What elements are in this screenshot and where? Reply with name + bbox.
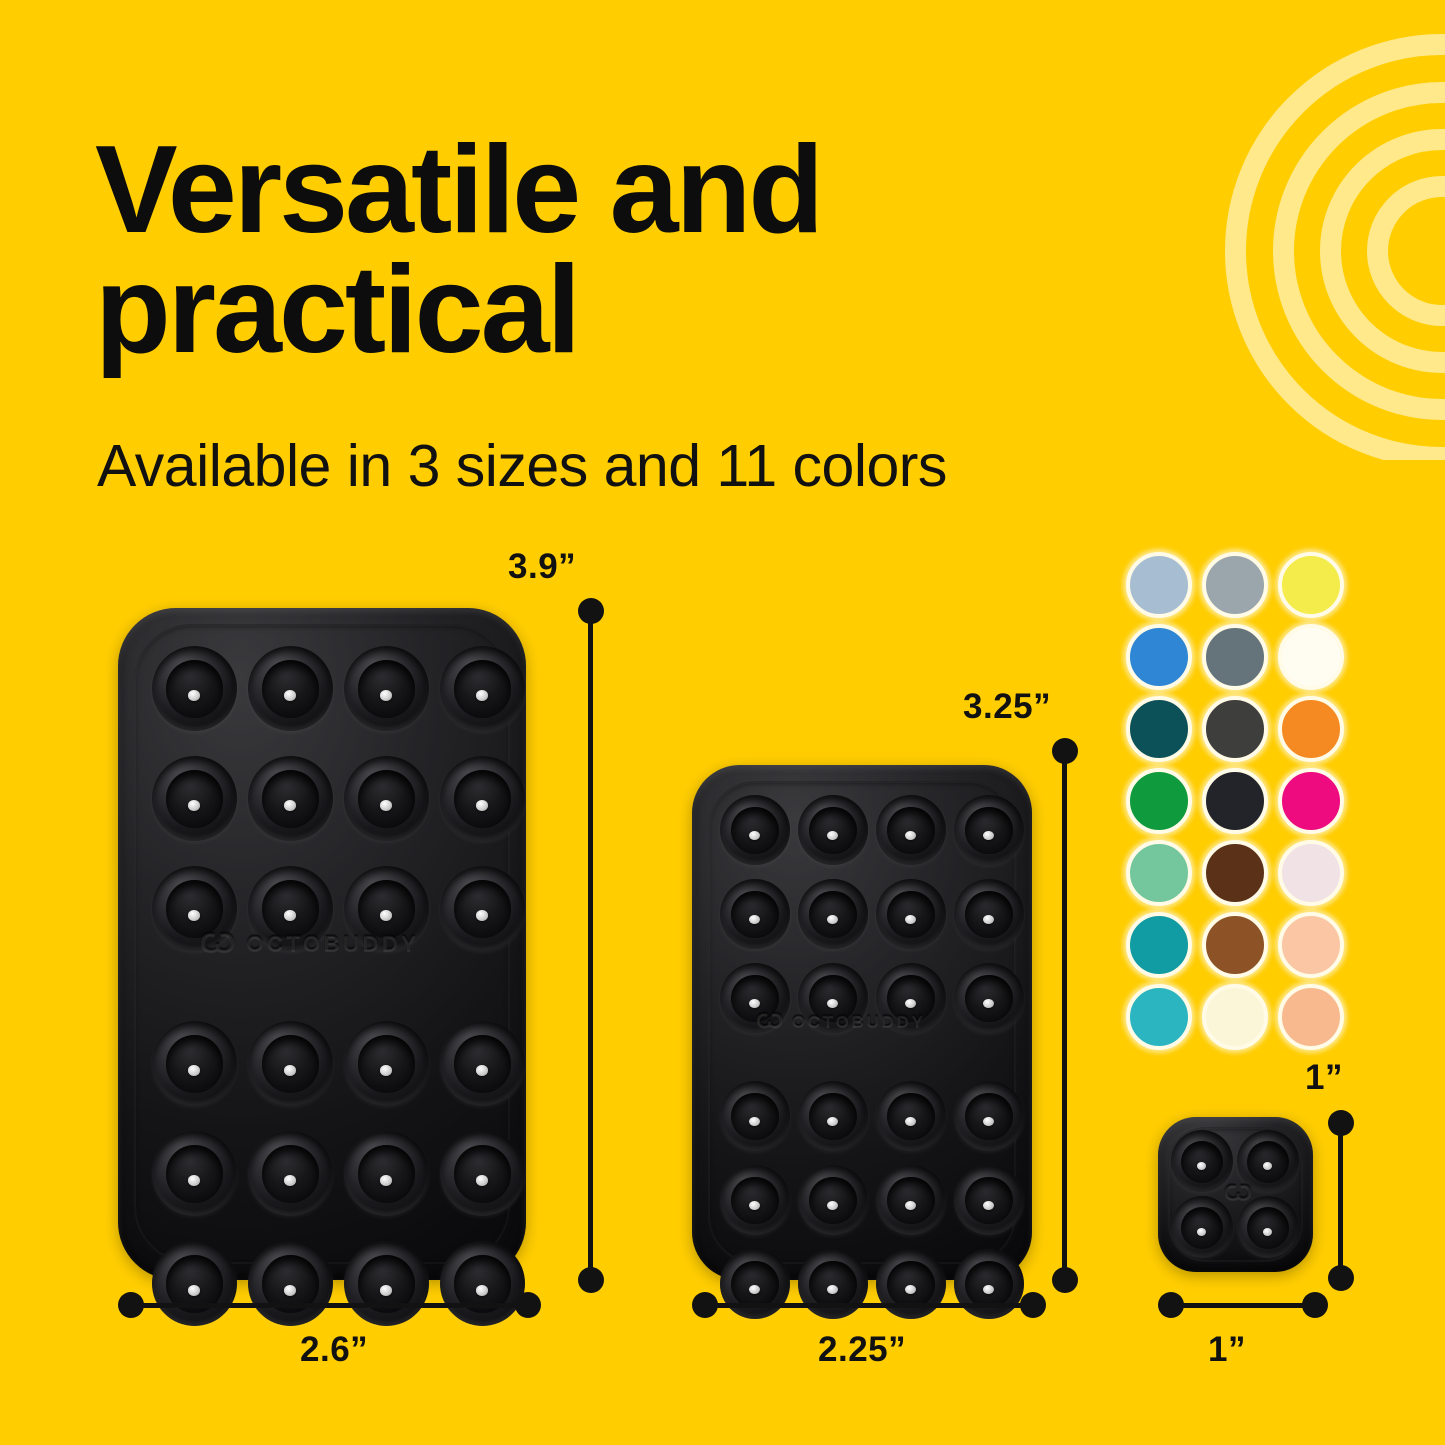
ring-icon bbox=[1225, 34, 1445, 460]
dim-endpoint-dot bbox=[578, 1267, 604, 1293]
suction-cup-nib bbox=[905, 831, 916, 840]
suction-cup bbox=[720, 1165, 790, 1235]
suction-cup bbox=[876, 963, 946, 1033]
suction-cup-nib bbox=[284, 1285, 297, 1296]
suction-cup-nib bbox=[827, 999, 838, 1008]
dim-endpoint-dot bbox=[1052, 1267, 1078, 1293]
large-pad-width-line bbox=[128, 1303, 528, 1308]
suction-cup-nib bbox=[905, 999, 916, 1008]
suction-cup-nib bbox=[284, 690, 297, 701]
color-swatch-blush-white[interactable] bbox=[1278, 840, 1344, 906]
page-title-line-1: Versatile and bbox=[95, 121, 821, 259]
mini-pad-height-line bbox=[1338, 1120, 1343, 1275]
suction-cup bbox=[440, 1021, 525, 1106]
suction-cup-nib bbox=[188, 1065, 201, 1076]
suction-cup bbox=[720, 879, 790, 949]
suction-cup-nib bbox=[983, 999, 994, 1008]
suction-cup-nib bbox=[1197, 1162, 1206, 1170]
suction-cup bbox=[954, 879, 1024, 949]
suction-cup-nib bbox=[1263, 1228, 1272, 1236]
suction-cup bbox=[440, 866, 525, 951]
suction-cup-nib bbox=[188, 1285, 201, 1296]
suction-cup-nib bbox=[476, 690, 489, 701]
suction-cup bbox=[344, 866, 429, 951]
suction-cup-nib bbox=[1263, 1162, 1272, 1170]
suction-cup bbox=[152, 866, 237, 951]
suction-cup-nib bbox=[983, 1117, 994, 1126]
color-swatch-charcoal[interactable] bbox=[1202, 696, 1268, 762]
suction-cup bbox=[1171, 1196, 1233, 1258]
suction-cup-nib bbox=[284, 1175, 297, 1186]
suction-cup-nib bbox=[380, 1175, 393, 1186]
suction-cup bbox=[248, 646, 333, 731]
color-swatch-medium-brown[interactable] bbox=[1202, 912, 1268, 978]
suction-cup bbox=[1237, 1196, 1299, 1258]
suction-cup-nib bbox=[983, 1285, 994, 1294]
suction-cup-nib bbox=[380, 800, 393, 811]
large-pad-height-line bbox=[588, 608, 593, 1280]
dim-endpoint-dot bbox=[515, 1292, 541, 1318]
suction-cup bbox=[344, 1241, 429, 1326]
suction-cup bbox=[152, 1131, 237, 1216]
color-swatch-mint-green[interactable] bbox=[1126, 840, 1192, 906]
suction-cup-nib bbox=[905, 1117, 916, 1126]
color-swatch-bright-yellow[interactable] bbox=[1278, 552, 1344, 618]
suction-cup bbox=[876, 1165, 946, 1235]
suction-cup bbox=[344, 1021, 429, 1106]
suction-cup bbox=[440, 1131, 525, 1216]
suction-cup-nib bbox=[983, 1201, 994, 1210]
suction-cup bbox=[152, 1021, 237, 1106]
suction-cup bbox=[440, 646, 525, 731]
suction-cup bbox=[954, 1081, 1024, 1151]
suction-cup-nib bbox=[476, 910, 489, 921]
dim-endpoint-dot bbox=[1020, 1292, 1046, 1318]
suction-cup-nib bbox=[905, 915, 916, 924]
suction-cup bbox=[954, 795, 1024, 865]
suction-cup bbox=[248, 1241, 333, 1326]
suction-cup bbox=[720, 963, 790, 1033]
suction-cup bbox=[798, 1165, 868, 1235]
suction-cup bbox=[720, 1081, 790, 1151]
large-pad-height-label: 3.9” bbox=[508, 547, 576, 587]
suction-cup-nib bbox=[188, 800, 201, 811]
medium-pad-width-line bbox=[702, 1303, 1032, 1308]
color-swatch-deep-teal[interactable] bbox=[1126, 696, 1192, 762]
suction-cup bbox=[720, 1249, 790, 1319]
suction-cup-nib bbox=[380, 690, 393, 701]
mini-pad-width-label: 1” bbox=[1208, 1330, 1246, 1370]
medium-suction-pad: ѠOCTOBUDDY bbox=[692, 765, 1032, 1280]
suction-cup bbox=[248, 1131, 333, 1216]
suction-cup bbox=[1237, 1130, 1299, 1192]
suction-cup-nib bbox=[827, 915, 838, 924]
suction-cup bbox=[798, 963, 868, 1033]
suction-cup bbox=[248, 756, 333, 841]
dim-endpoint-dot bbox=[1302, 1292, 1328, 1318]
suction-cup-nib bbox=[983, 915, 994, 924]
dim-endpoint-dot bbox=[1328, 1265, 1354, 1291]
color-swatch-slate-grey[interactable] bbox=[1202, 624, 1268, 690]
large-suction-pad: ѠOCTOBUDDY bbox=[118, 608, 526, 1280]
suction-cup-nib bbox=[476, 1285, 489, 1296]
suction-cup bbox=[344, 646, 429, 731]
suction-cup bbox=[954, 1165, 1024, 1235]
page-subtitle: Available in 3 sizes and 11 colors bbox=[97, 432, 947, 500]
suction-cup bbox=[876, 1081, 946, 1151]
suction-cup bbox=[876, 879, 946, 949]
page-title-line-2: practical bbox=[95, 250, 1215, 370]
suction-cup bbox=[248, 1021, 333, 1106]
color-swatch-magenta-pink[interactable] bbox=[1278, 768, 1344, 834]
suction-cup-nib bbox=[827, 1201, 838, 1210]
color-swatch-peach[interactable] bbox=[1278, 912, 1344, 978]
suction-cup-nib bbox=[749, 1201, 760, 1210]
color-swatch-cream-ivory[interactable] bbox=[1202, 984, 1268, 1050]
suction-cup bbox=[152, 1241, 237, 1326]
suction-cup bbox=[440, 756, 525, 841]
suction-cup-nib bbox=[905, 1285, 916, 1294]
ring-icon bbox=[1320, 129, 1445, 373]
suction-cup-nib bbox=[188, 690, 201, 701]
suction-cup-nib bbox=[476, 1175, 489, 1186]
suction-cup bbox=[344, 1131, 429, 1216]
color-swatch-grid bbox=[1126, 552, 1344, 1050]
suction-cup-nib bbox=[749, 1117, 760, 1126]
page-title: Versatile and practical bbox=[95, 130, 1215, 371]
suction-cup bbox=[876, 1249, 946, 1319]
suction-cup bbox=[798, 1249, 868, 1319]
medium-pad-height-line bbox=[1062, 748, 1067, 1278]
suction-cup bbox=[954, 1249, 1024, 1319]
ring-icon bbox=[1367, 176, 1445, 326]
suction-cup-nib bbox=[284, 800, 297, 811]
color-swatch-green[interactable] bbox=[1126, 768, 1192, 834]
mini-pad-width-line bbox=[1168, 1303, 1313, 1308]
color-swatch-dark-brown[interactable] bbox=[1202, 840, 1268, 906]
suction-cup-nib bbox=[380, 1285, 393, 1296]
suction-cup-nib bbox=[827, 1117, 838, 1126]
color-swatch-white[interactable] bbox=[1278, 624, 1344, 690]
suction-cup-nib bbox=[905, 1201, 916, 1210]
suction-cup bbox=[954, 963, 1024, 1033]
suction-cup bbox=[798, 879, 868, 949]
suction-cup-nib bbox=[827, 1285, 838, 1294]
suction-cup bbox=[876, 795, 946, 865]
mini-suction-pad: Ѡ bbox=[1158, 1117, 1313, 1272]
infographic-canvas: Versatile and practical Available in 3 s… bbox=[0, 0, 1445, 1445]
color-swatch-turquoise[interactable] bbox=[1126, 984, 1192, 1050]
suction-cup-nib bbox=[476, 800, 489, 811]
color-swatch-orange[interactable] bbox=[1278, 696, 1344, 762]
suction-cup-nib bbox=[749, 831, 760, 840]
mini-pad-height-label: 1” bbox=[1305, 1058, 1343, 1098]
suction-cup bbox=[248, 866, 333, 951]
medium-pad-width-label: 2.25” bbox=[818, 1330, 906, 1370]
suction-cup-nib bbox=[284, 910, 297, 921]
suction-cup-nib bbox=[188, 910, 201, 921]
suction-cup-nib bbox=[380, 1065, 393, 1076]
suction-cup-nib bbox=[1197, 1228, 1206, 1236]
suction-cup bbox=[798, 795, 868, 865]
color-swatch-light-peach[interactable] bbox=[1278, 984, 1344, 1050]
color-swatch-teal[interactable] bbox=[1126, 912, 1192, 978]
suction-cup-nib bbox=[749, 1285, 760, 1294]
color-swatch-light-blue-grey[interactable] bbox=[1126, 552, 1192, 618]
suction-cup bbox=[720, 795, 790, 865]
suction-cup-nib bbox=[380, 910, 393, 921]
suction-cup bbox=[798, 1081, 868, 1151]
suction-cup bbox=[344, 756, 429, 841]
suction-cup bbox=[1171, 1130, 1233, 1192]
suction-cup-nib bbox=[284, 1065, 297, 1076]
suction-cup bbox=[440, 1241, 525, 1326]
large-pad-width-label: 2.6” bbox=[300, 1330, 368, 1370]
suction-cup-nib bbox=[749, 915, 760, 924]
medium-pad-height-label: 3.25” bbox=[963, 687, 1051, 727]
color-swatch-grey[interactable] bbox=[1202, 552, 1268, 618]
suction-cup bbox=[152, 646, 237, 731]
suction-cup bbox=[152, 756, 237, 841]
color-swatch-black[interactable] bbox=[1202, 768, 1268, 834]
suction-cup-nib bbox=[188, 1175, 201, 1186]
color-swatch-azure-blue[interactable] bbox=[1126, 624, 1192, 690]
suction-cup-nib bbox=[476, 1065, 489, 1076]
ring-icon bbox=[1273, 82, 1445, 420]
suction-cup-nib bbox=[983, 831, 994, 840]
suction-cup-nib bbox=[827, 831, 838, 840]
suction-cup-nib bbox=[749, 999, 760, 1008]
